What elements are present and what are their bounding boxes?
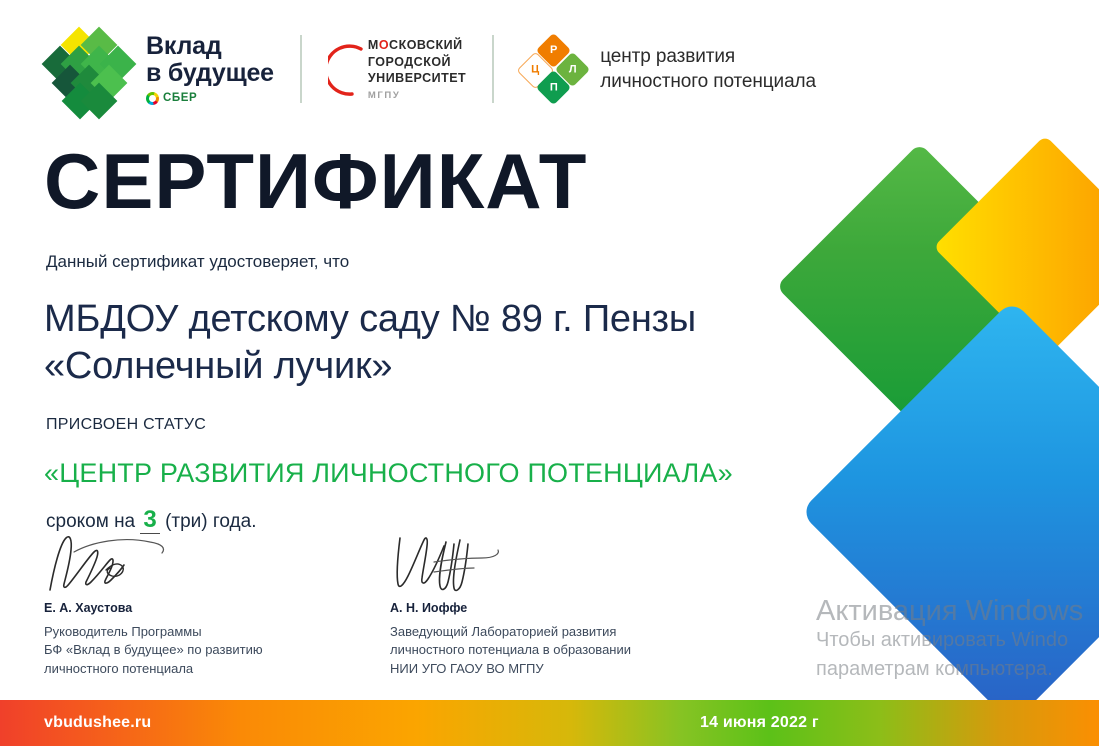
signatory-name: А. Н. Иоффе xyxy=(390,601,631,615)
page-title: СЕРТИФИКАТ xyxy=(44,142,587,220)
handwritten-signature-icon xyxy=(44,528,254,594)
mgpu-line-1: МОСКОВСКИЙ xyxy=(368,37,466,54)
crlp-diamonds-icon: Ц Р Л П xyxy=(520,37,584,101)
orange-diamond-decoration xyxy=(933,135,1099,358)
crlp-wordmark: центр развития личностного потенциала xyxy=(600,44,816,94)
sber-circle-icon xyxy=(146,92,159,105)
crlp-tile-letter: Л xyxy=(569,64,577,75)
certificate-page: Вклад в будущее СБЕР МОСКОВСКИЙ ГОРОДСКО… xyxy=(0,0,1099,746)
mgpu-abbrev: МГПУ xyxy=(368,90,466,101)
mgpu-line-2: ГОРОДСКОЙ xyxy=(368,54,466,71)
crlp-tile-letter: Р xyxy=(550,45,557,56)
footer-date: 14 июня 2022 г xyxy=(700,714,819,732)
sber-badge: СБЕР xyxy=(146,92,274,105)
watermark-line-2: параметрам компьютера. xyxy=(816,655,1099,684)
vbudushee-line-1: Вклад xyxy=(146,33,274,59)
certificate-subtitle: Данный сертификат удостоверяет, что xyxy=(46,252,349,272)
watermark-title: Активация Windows xyxy=(816,596,1099,626)
crlp-line-2: личностного потенциала xyxy=(600,69,816,94)
mgpu-line-3: УНИВЕРСИТЕТ xyxy=(368,70,466,87)
vbudushee-line-2: в будущее xyxy=(146,60,274,86)
windows-activation-watermark: Активация Windows Чтобы активировать Win… xyxy=(816,596,1099,684)
crlp-line-1: центр развития xyxy=(600,44,816,69)
logo-vbudushee: Вклад в будущее СБЕР xyxy=(42,30,274,108)
logo-divider-1 xyxy=(300,35,302,103)
logo-mgpu: МОСКОВСКИЙ ГОРОДСКОЙ УНИВЕРСИТЕТ МГПУ xyxy=(328,37,466,101)
crlp-tile-letter: Ц xyxy=(532,65,540,76)
footer-website[interactable]: vbudushee.ru xyxy=(44,714,151,732)
crlp-tile-letter: П xyxy=(550,82,558,93)
red-arc-icon xyxy=(328,39,364,101)
logo-divider-2 xyxy=(492,35,494,103)
watermark-line-1: Чтобы активировать Windo xyxy=(816,626,1099,655)
handwritten-signature-icon xyxy=(390,528,600,594)
footer-bar: vbudushee.ru 14 июня 2022 г xyxy=(0,700,1099,746)
status-value: «ЦЕНТР РАЗВИТИЯ ЛИЧНОСТНОГО ПОТЕНЦИАЛА» xyxy=(44,458,733,489)
recipient-name: МБДОУ детскому саду № 89 г. Пензы «Солне… xyxy=(44,296,844,389)
vbudushee-wordmark: Вклад в будущее СБЕР xyxy=(146,33,274,105)
logo-crlp: Ц Р Л П центр развития личностного потен… xyxy=(520,37,816,101)
mgpu-wordmark: МОСКОВСКИЙ ГОРОДСКОЙ УНИВЕРСИТЕТ МГПУ xyxy=(368,37,466,101)
signatory-name: Е. А. Хаустова xyxy=(44,601,263,615)
signatory-role: Заведующий Лабораторией развития личност… xyxy=(390,623,631,678)
signature-block-left: Е. А. Хаустова Руководитель Программы БФ… xyxy=(44,528,263,678)
vbudushee-mark-icon xyxy=(42,30,132,108)
header-logos: Вклад в будущее СБЕР МОСКОВСКИЙ ГОРОДСКО… xyxy=(42,26,816,112)
status-label: ПРИСВОЕН СТАТУС xyxy=(46,416,206,434)
sber-label: СБЕР xyxy=(163,92,197,104)
signatory-role: Руководитель Программы БФ «Вклад в будущ… xyxy=(44,623,263,678)
signature-block-right: А. Н. Иоффе Заведующий Лабораторией разв… xyxy=(390,528,631,678)
